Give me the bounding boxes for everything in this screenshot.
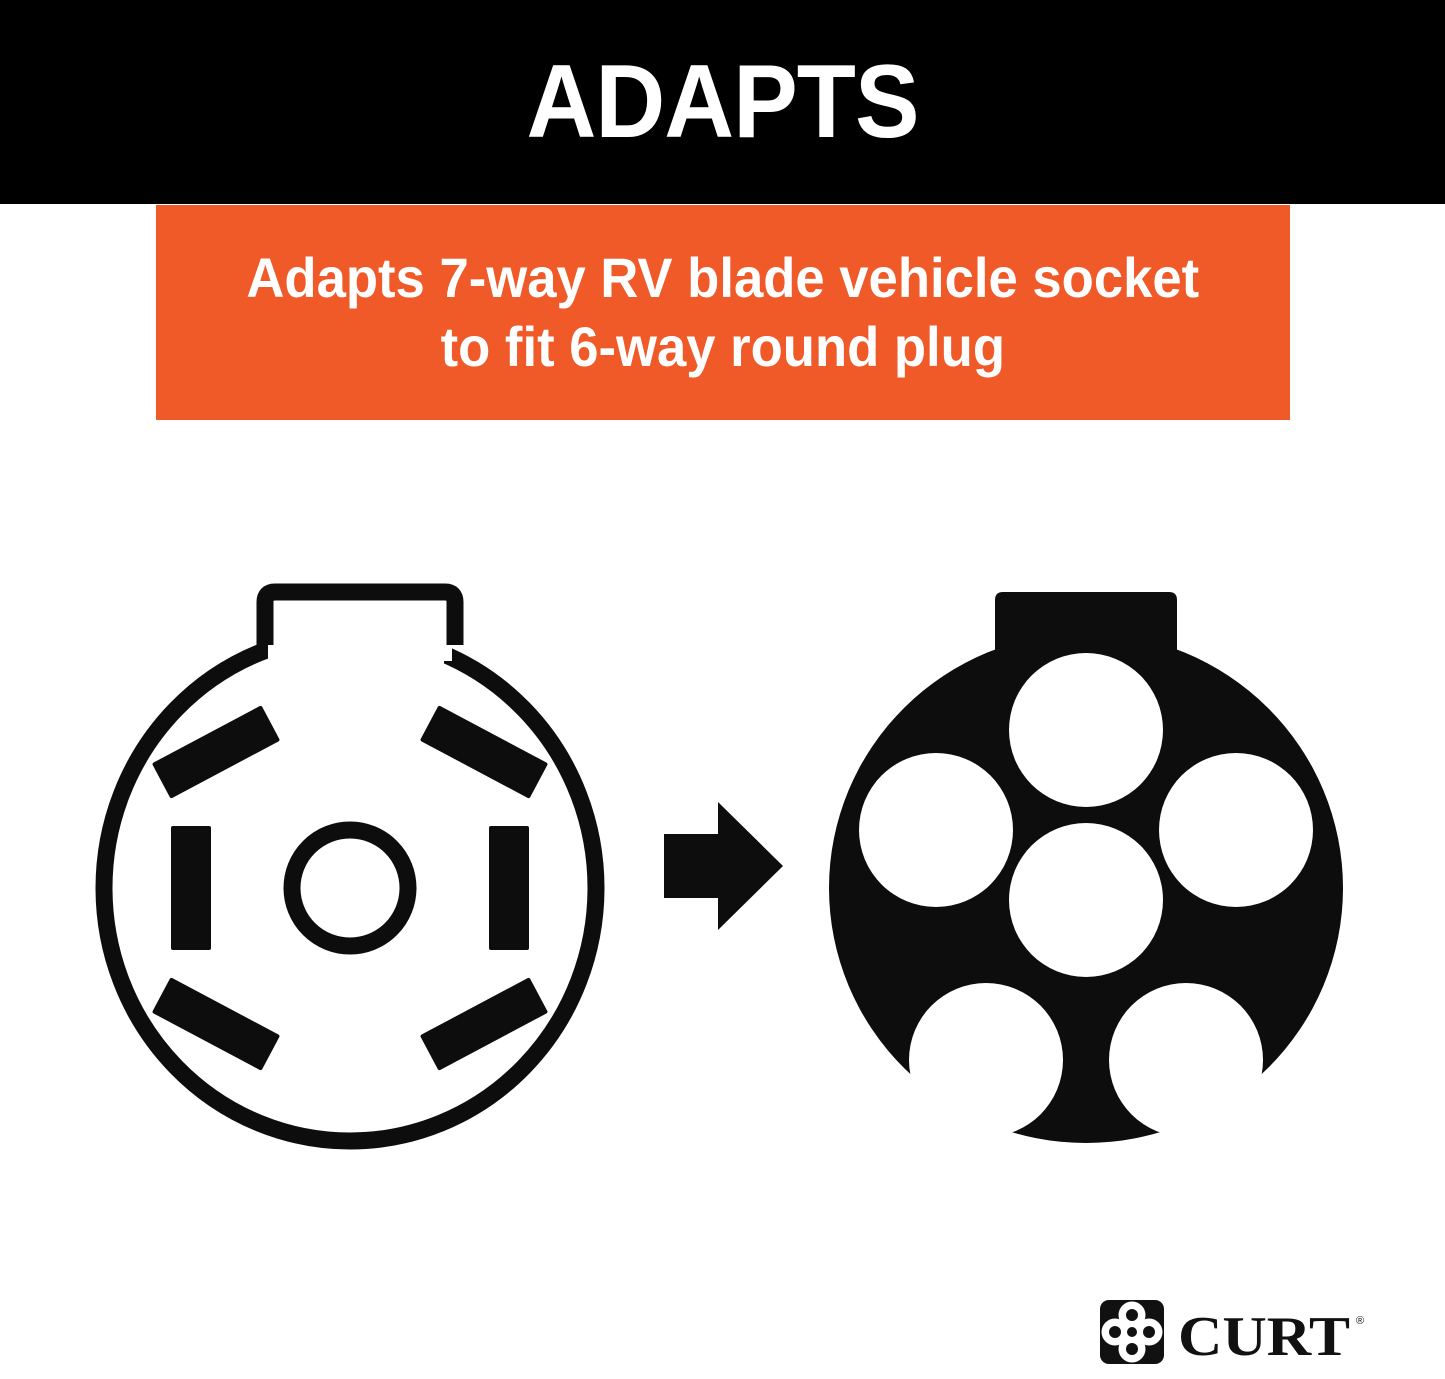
pin-hole-upper-right — [1159, 753, 1313, 907]
subtitle-line-1: Adapts 7-way RV blade vehicle socket — [247, 246, 1200, 309]
connector-illustration — [0, 430, 1445, 1230]
right-arrow-icon — [664, 802, 783, 930]
target-connector-6way-round-plug — [829, 592, 1343, 1143]
subtitle-band: Adapts 7-way RV blade vehicle socket to … — [156, 205, 1290, 420]
socket-center-pin-ring — [292, 830, 408, 946]
registered-trademark-symbol: ® — [1356, 1315, 1364, 1327]
subtitle-text: Adapts 7-way RV blade vehicle socket to … — [224, 244, 1222, 381]
logo-dot-right — [1143, 1326, 1155, 1338]
source-connector-7way-blade-socket — [104, 592, 596, 1141]
subtitle-line-2: to fit 6-way round plug — [441, 315, 1005, 378]
pin-hole-top — [1009, 653, 1163, 807]
logo-dot-bottom — [1126, 1343, 1138, 1355]
logo-dot-top — [1126, 1309, 1138, 1321]
brand-logo: CURT ® — [1100, 1298, 1365, 1366]
pin-hole-lower-left — [909, 983, 1063, 1137]
header-banner: ADAPTS — [0, 0, 1445, 204]
curt-wordmark: CURT — [1178, 1306, 1350, 1366]
connector-diagram-svg — [0, 430, 1445, 1230]
pin-hole-center — [1009, 823, 1163, 977]
blade-slot-left — [171, 826, 211, 950]
product-feature-graphic: ADAPTS Adapts 7-way RV blade vehicle soc… — [0, 0, 1445, 1379]
curt-logo-svg: CURT ® — [1100, 1298, 1365, 1366]
right-arrow-shape — [664, 802, 783, 930]
page-title: ADAPTS — [51, 0, 1395, 204]
logo-dot-left — [1109, 1326, 1121, 1338]
pin-hole-upper-left — [859, 753, 1013, 907]
pin-hole-lower-right — [1109, 983, 1263, 1137]
blade-slot-right — [489, 826, 529, 950]
curt-logo-mark-icon — [1100, 1300, 1164, 1364]
logo-dot-center — [1127, 1327, 1137, 1337]
